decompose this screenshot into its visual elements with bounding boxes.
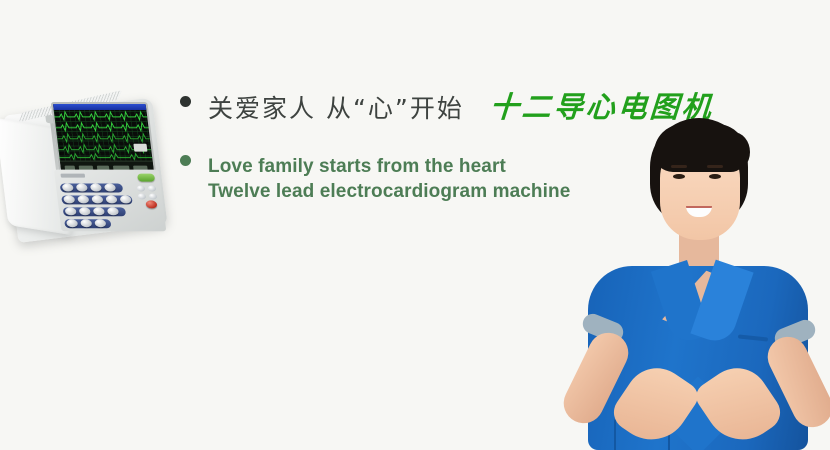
nurse-eye-right [709, 174, 721, 179]
device-lcd-screen [51, 102, 157, 177]
english-slogan-line1: Love family starts from the heart [208, 154, 570, 179]
nurse-eyebrow-right [707, 165, 723, 168]
keypad-nav-button [137, 186, 146, 192]
keypad-button [62, 184, 74, 192]
keypad-button [90, 184, 102, 192]
keypad-nav-button [148, 186, 157, 192]
keypad-button [80, 219, 92, 227]
english-slogan-line2: Twelve lead electrocardiogram machine [208, 179, 570, 204]
keypad-button [107, 207, 119, 215]
keypad-button [94, 219, 106, 227]
keypad-button [66, 219, 78, 227]
screen-ecg-waveforms [54, 110, 153, 162]
keypad-stop-button [145, 200, 157, 208]
nurse-photo [566, 118, 830, 450]
keypad-button [105, 195, 117, 203]
keypad-button [120, 195, 132, 203]
nurse-eyebrow-left [671, 165, 687, 168]
keypad-button [63, 195, 75, 203]
nurse-eye-left [673, 174, 685, 179]
keypad-start-button [137, 174, 155, 182]
keypad-button [77, 195, 89, 203]
device-brand-label [60, 174, 85, 178]
bullet-point-icon-english [180, 155, 191, 166]
english-slogan-block: Love family starts from the heart Twelve… [208, 154, 570, 204]
keypad-button [79, 207, 91, 215]
keypad-button [76, 184, 88, 192]
keypad-button [104, 184, 116, 192]
ecg-machine-image [0, 78, 181, 258]
keypad-button [93, 207, 105, 215]
keypad-button [91, 195, 103, 203]
nurse-hair-fringe [654, 124, 746, 172]
headline-chinese-slogan: 关爱家人 从“心”开始 [208, 89, 464, 125]
device-keypad [54, 170, 166, 232]
bullet-point-icon-chinese [180, 96, 191, 107]
keypad-nav-button [137, 193, 146, 199]
screen-brand-mark [133, 144, 147, 152]
product-banner: 关爱家人 从“心”开始 十二导心电图机 Love family starts f… [0, 0, 830, 450]
keypad-nav-button [149, 193, 158, 199]
keypad-button [65, 207, 77, 215]
